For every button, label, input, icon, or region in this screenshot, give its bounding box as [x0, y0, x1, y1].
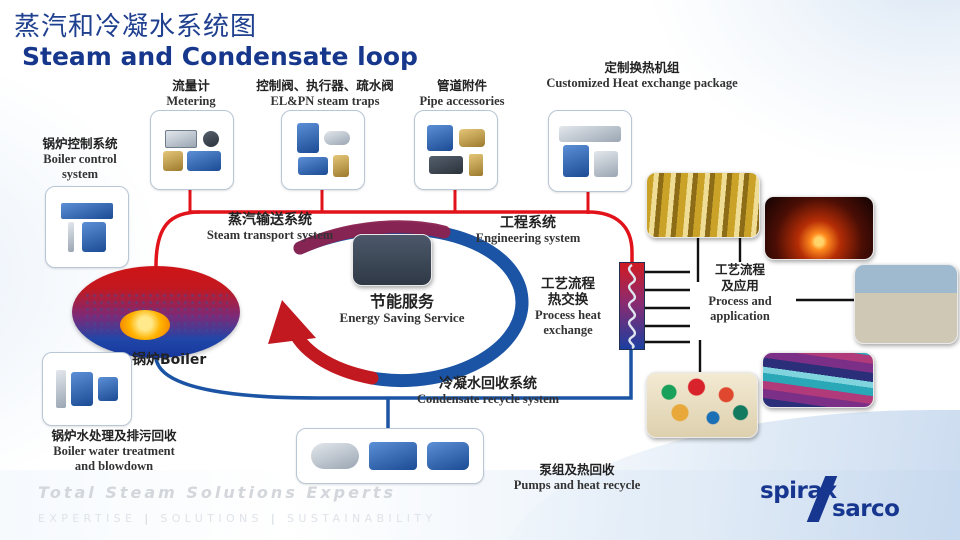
- engineer-at-work-photo: [352, 234, 432, 286]
- spirax-sarco-logo: spirax sarco: [760, 478, 948, 526]
- tagline: Total Steam Solutions Experts: [38, 483, 396, 502]
- flow-meter-thumbnail[interactable]: [150, 110, 234, 190]
- heat-exchange-package-thumbnail[interactable]: [548, 110, 632, 192]
- label-steam-transport-system: 蒸汽输送系统 Steam transport system: [180, 212, 360, 243]
- boiler-controller-thumbnail[interactable]: [45, 186, 129, 268]
- brand-pillars: EXPERTISE | SOLUTIONS | SUSTAINABILITY: [38, 512, 437, 525]
- pump-set-thumbnail[interactable]: [296, 428, 484, 484]
- control-valve-thumbnail[interactable]: [281, 110, 365, 190]
- label-condensate-recycle-system: 冷凝水回收系统 Condensate recycle system: [398, 376, 578, 407]
- label-boiler-control-system: 锅炉控制系统 Boiler control system: [18, 136, 142, 182]
- heat-exchanger-coil: [620, 263, 644, 349]
- slide-canvas: 蒸汽和冷凝水系统图 Steam and Condensate loop: [0, 0, 960, 540]
- pillar-solutions: SOLUTIONS: [160, 512, 263, 525]
- label-metering: 流量计 Metering: [150, 78, 232, 109]
- canning-line-photo: [646, 172, 760, 238]
- label-process-heat-exchange: 工艺流程 热交换 Process heat exchange: [520, 276, 616, 338]
- label-steam-traps: 控制阀、执行器、疏水阀 EL&PN steam traps: [250, 78, 400, 109]
- pillar-sustainability: SUSTAINABILITY: [287, 512, 437, 525]
- pipe-accessory-thumbnail[interactable]: [414, 110, 498, 190]
- label-pipe-accessories: 管道附件 Pipe accessories: [404, 78, 520, 109]
- heat-exchanger-graphic: [619, 262, 645, 350]
- boiler-flame: [120, 310, 170, 340]
- label-heat-exchange-package: 定制换热机组 Customized Heat exchange package: [512, 60, 772, 91]
- classical-building-photo: [854, 264, 958, 344]
- water-treatment-thumbnail[interactable]: [42, 352, 132, 426]
- pillar-separator-1: |: [144, 512, 152, 525]
- pillar-separator-2: |: [271, 512, 279, 525]
- boiler-graphic: [72, 266, 240, 358]
- pharmaceutical-pills-photo: [646, 372, 758, 438]
- textile-yarn-photo: [762, 352, 874, 408]
- label-process-and-application: 工艺流程 及应用 Process and application: [690, 262, 790, 324]
- logo-text-sarco: sarco: [832, 496, 900, 522]
- label-energy-saving-service: 节能服务 Energy Saving Service: [312, 294, 492, 325]
- refinery-at-night-photo: [764, 196, 874, 260]
- label-engineering-system: 工程系统 Engineering system: [448, 215, 608, 246]
- label-boiler: 锅炉Boiler: [132, 352, 206, 368]
- label-boiler-water-treatment: 锅炉水处理及排污回收 Boiler water treatment and bl…: [14, 428, 214, 474]
- pillar-expertise: EXPERTISE: [38, 512, 136, 525]
- label-pumps-and-heat-recycle: 泵组及热回收 Pumps and heat recycle: [470, 462, 684, 493]
